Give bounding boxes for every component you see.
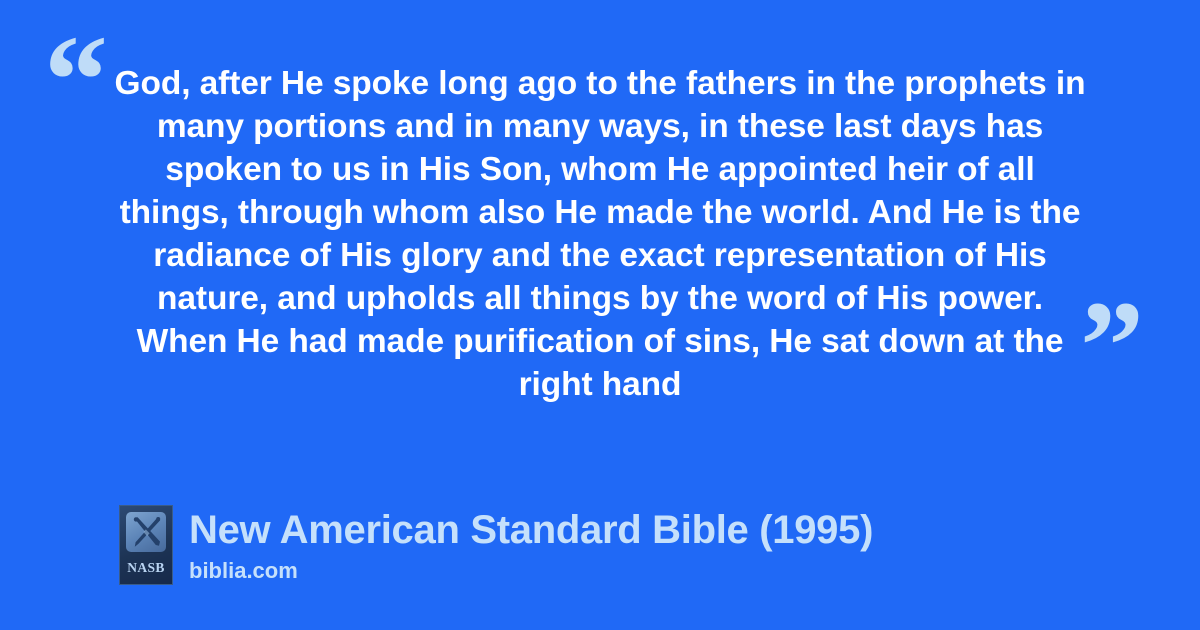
nasb-logo: NASB	[119, 505, 173, 585]
opening-quote-icon: “	[44, 16, 108, 144]
source-site-label[interactable]: biblia.com	[189, 558, 873, 584]
nasb-sword-emblem-icon	[126, 512, 166, 552]
bible-version-title: New American Standard Bible (1995)	[189, 506, 873, 554]
logo-wordmark: NASB	[127, 561, 165, 575]
attribution: NASB New American Standard Bible (1995) …	[119, 505, 873, 585]
quote-text: God, after He spoke long ago to the fath…	[110, 62, 1090, 406]
closing-quote-icon: ”	[1080, 282, 1144, 410]
quote-area: “ God, after He spoke long ago to the fa…	[0, 0, 1200, 470]
bible-quote-card: “ God, after He spoke long ago to the fa…	[0, 0, 1200, 630]
attribution-text: New American Standard Bible (1995) bibli…	[189, 505, 873, 584]
